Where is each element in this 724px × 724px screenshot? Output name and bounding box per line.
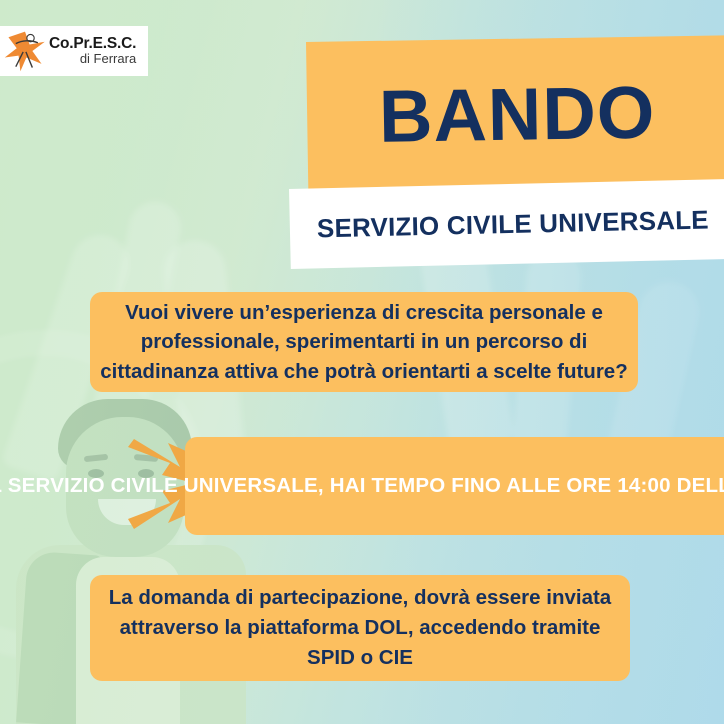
deadline-card: PARTECIPA AL SERVIZIO CIVILE UNIVERSALE,…: [185, 437, 724, 535]
page-subtitle: SERVIZIO CIVILE UNIVERSALE: [289, 179, 724, 269]
how-to-apply-card-text: La domanda di partecipazione, dovrà esse…: [100, 583, 620, 672]
how-to-apply-card: La domanda di partecipazione, dovrà esse…: [90, 575, 630, 681]
logo-wordmark: Co.Pr.E.S.C. di Ferrara: [49, 36, 136, 65]
copresc-logo: Co.Pr.E.S.C. di Ferrara: [0, 26, 148, 76]
logo-name: Co.Pr.E.S.C.: [49, 36, 136, 52]
deadline-card-text: PARTECIPA AL SERVIZIO CIVILE UNIVERSALE,…: [0, 472, 724, 501]
question-card-text: Vuoi vivere un’esperienza di crescita pe…: [100, 298, 628, 385]
page-title: BANDO: [306, 35, 724, 192]
poster-canvas: Co.Pr.E.S.C. di Ferrara BANDO SERVIZIO C…: [0, 0, 724, 724]
star-person-icon: [2, 28, 48, 74]
question-card: Vuoi vivere un’esperienza di crescita pe…: [90, 292, 638, 392]
logo-location: di Ferrara: [49, 52, 136, 65]
